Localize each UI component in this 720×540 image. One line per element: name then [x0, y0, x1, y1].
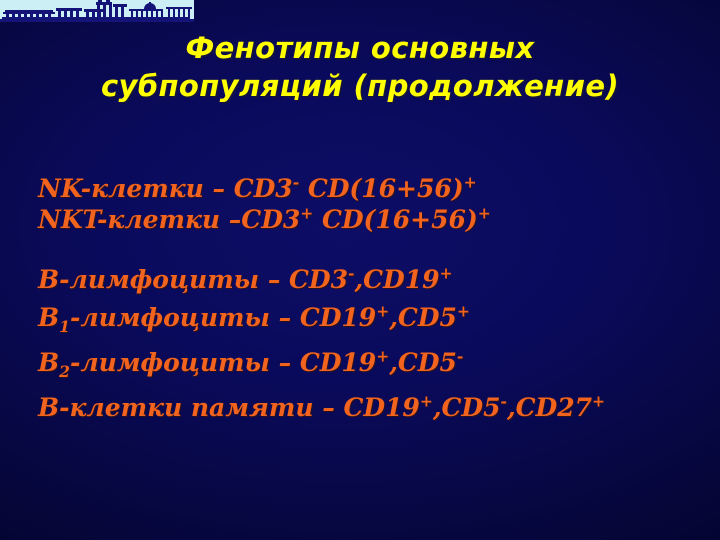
marker-superscript: - — [348, 264, 354, 283]
marker-superscript: + — [478, 204, 491, 223]
marker-superscript: + — [420, 392, 433, 411]
presentation-slide: Фенотипы основных субпопуляций (продолже… — [0, 0, 720, 540]
marker-superscript: + — [592, 392, 605, 411]
marker-superscript: - — [501, 392, 507, 411]
marker-superscript: + — [464, 173, 477, 192]
list-item-b2-lymphocytes: В2-лимфоциты – CD19+,CD5- — [38, 340, 698, 385]
list-item-nk-cells: NK-клетки – CD3- CD(16+56)+ — [38, 173, 698, 204]
marker-superscript: - — [457, 347, 463, 366]
marker-subscript: 1 — [59, 317, 70, 336]
marker-superscript: + — [440, 264, 453, 283]
university-building-logo — [0, 0, 194, 22]
phenotype-list: NK-клетки – CD3- CD(16+56)+NKT-клетки –C… — [38, 173, 698, 430]
list-item-b-lymphocytes: В-лимфоциты – CD3-,CD19+ — [38, 264, 698, 295]
building-silhouette-icon — [0, 0, 194, 22]
page-title: Фенотипы основных субпопуляций (продолже… — [0, 29, 720, 105]
list-item-b1-lymphocytes: В1-лимфоциты – CD19+,CD5+ — [38, 295, 698, 340]
marker-superscript: + — [376, 347, 389, 366]
list-item-nkt-cells: NKT-клетки –CD3+ CD(16+56)+ — [38, 204, 698, 235]
marker-superscript: + — [457, 302, 470, 321]
marker-superscript: + — [376, 302, 389, 321]
title-line-1: Фенотипы основных — [0, 29, 720, 67]
title-line-2: субпопуляций (продолжение) — [0, 67, 720, 105]
marker-superscript: + — [300, 204, 313, 223]
marker-subscript: 2 — [59, 362, 70, 381]
marker-superscript: - — [293, 173, 299, 192]
list-item-b-memory-cells: В-клетки памяти – CD19+,CD5-,CD27+ — [38, 385, 698, 430]
